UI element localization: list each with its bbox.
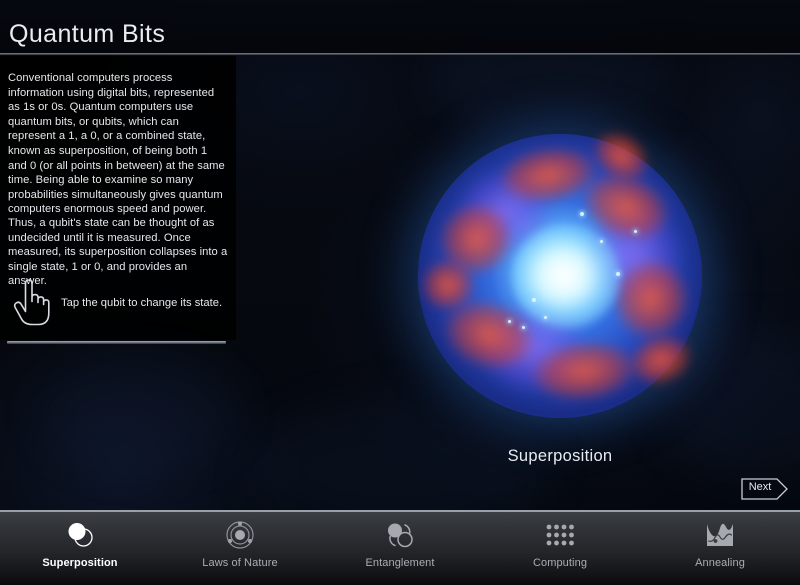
superposition-icon [63, 520, 97, 550]
quantum-bits-app: Superposition Quantum Bits Conventional … [0, 0, 800, 585]
page-title: Quantum Bits [9, 20, 165, 49]
tap-hint-label: Tap the qubit to change its state. [61, 297, 222, 309]
qubit-spark [532, 298, 536, 302]
nav-label-computing: Computing [533, 557, 587, 569]
nav-label-laws-of-nature: Laws of Nature [202, 557, 277, 569]
next-button-label: Next [741, 481, 779, 493]
qubit-spark [544, 316, 547, 319]
next-button[interactable]: Next [741, 478, 789, 500]
tap-hint-row: Tap the qubit to change its state. [8, 277, 230, 333]
qubit-spark [634, 230, 637, 233]
bottom-nav-bar: Superposition Laws of Nature [0, 510, 800, 585]
entanglement-icon [383, 520, 417, 550]
qubit-spark [600, 240, 603, 243]
pointing-hand-icon [11, 277, 51, 329]
background-wisp [40, 360, 240, 470]
qubit-sphere[interactable] [404, 120, 716, 432]
info-paragraph-1: Conventional computers process informati… [8, 71, 228, 217]
atom-orbit-icon [223, 520, 257, 550]
header-divider [0, 53, 800, 55]
nav-item-laws-of-nature[interactable]: Laws of Nature [160, 512, 320, 585]
dot-grid-icon [543, 520, 577, 550]
info-panel-divider [7, 341, 226, 344]
visualization-caption: Superposition [404, 447, 716, 466]
nav-label-annealing: Annealing [695, 557, 745, 569]
energy-valley-icon [703, 520, 737, 550]
qubit-spark [616, 272, 620, 276]
nav-item-superposition[interactable]: Superposition [0, 512, 160, 585]
header-bar: Quantum Bits [0, 0, 800, 54]
nav-item-entanglement[interactable]: Entanglement [320, 512, 480, 585]
qubit-rim-glow [412, 128, 708, 424]
info-panel: Conventional computers process informati… [0, 56, 236, 340]
nav-item-computing[interactable]: Computing [480, 512, 640, 585]
qubit-spark [508, 320, 511, 323]
qubit-spark [580, 212, 584, 216]
nav-label-entanglement: Entanglement [365, 557, 434, 569]
nav-item-annealing[interactable]: Annealing [640, 512, 800, 585]
nav-label-superposition: Superposition [42, 557, 117, 569]
qubit-spark [522, 326, 525, 329]
